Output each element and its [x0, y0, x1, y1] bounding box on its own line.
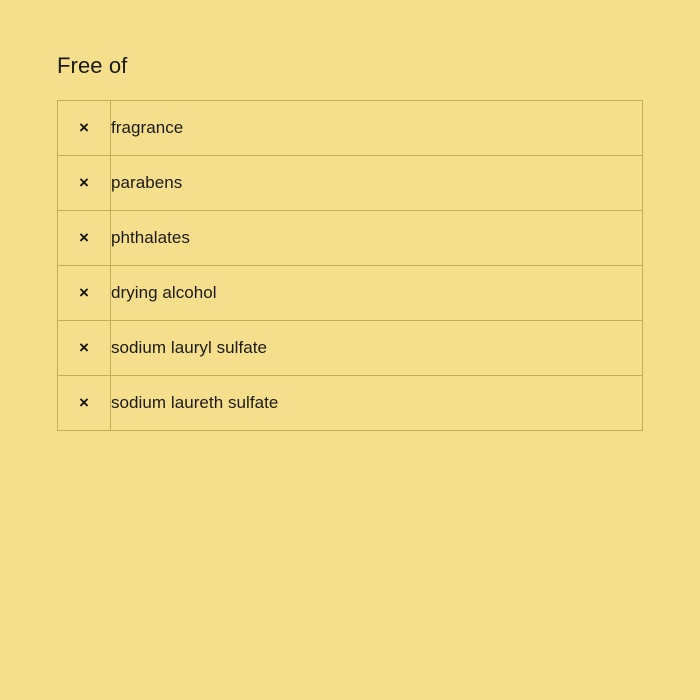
ingredient-label: drying alcohol	[111, 282, 642, 304]
free-of-mark-cell: ×	[58, 376, 111, 431]
x-mark-icon: ×	[79, 394, 89, 411]
table-row: ×parabens	[58, 156, 643, 211]
free-of-mark-cell: ×	[58, 266, 111, 321]
free-of-label-cell: fragrance	[111, 101, 643, 156]
ingredient-label: sodium lauryl sulfate	[111, 337, 642, 359]
table-row: ×drying alcohol	[58, 266, 643, 321]
x-mark-icon: ×	[79, 119, 89, 136]
ingredient-label: parabens	[111, 172, 642, 194]
ingredient-label: fragrance	[111, 117, 642, 139]
free-of-mark-cell: ×	[58, 321, 111, 376]
table-row: ×sodium laureth sulfate	[58, 376, 643, 431]
free-of-mark-cell: ×	[58, 211, 111, 266]
x-mark-icon: ×	[79, 339, 89, 356]
ingredient-label: sodium laureth sulfate	[111, 392, 642, 414]
page-root: Free of ×fragrance×parabens×phthalates×d…	[0, 0, 700, 700]
table-row: ×sodium lauryl sulfate	[58, 321, 643, 376]
page-title: Free of	[57, 52, 127, 80]
x-mark-icon: ×	[79, 174, 89, 191]
free-of-table: ×fragrance×parabens×phthalates×drying al…	[57, 100, 643, 431]
ingredient-label: phthalates	[111, 227, 642, 249]
x-mark-icon: ×	[79, 229, 89, 246]
free-of-label-cell: phthalates	[111, 211, 643, 266]
free-of-label-cell: sodium laureth sulfate	[111, 376, 643, 431]
free-of-label-cell: parabens	[111, 156, 643, 211]
free-of-mark-cell: ×	[58, 156, 111, 211]
free-of-label-cell: sodium lauryl sulfate	[111, 321, 643, 376]
table-row: ×phthalates	[58, 211, 643, 266]
free-of-table-body: ×fragrance×parabens×phthalates×drying al…	[58, 101, 643, 431]
free-of-mark-cell: ×	[58, 101, 111, 156]
free-of-label-cell: drying alcohol	[111, 266, 643, 321]
table-row: ×fragrance	[58, 101, 643, 156]
x-mark-icon: ×	[79, 284, 89, 301]
